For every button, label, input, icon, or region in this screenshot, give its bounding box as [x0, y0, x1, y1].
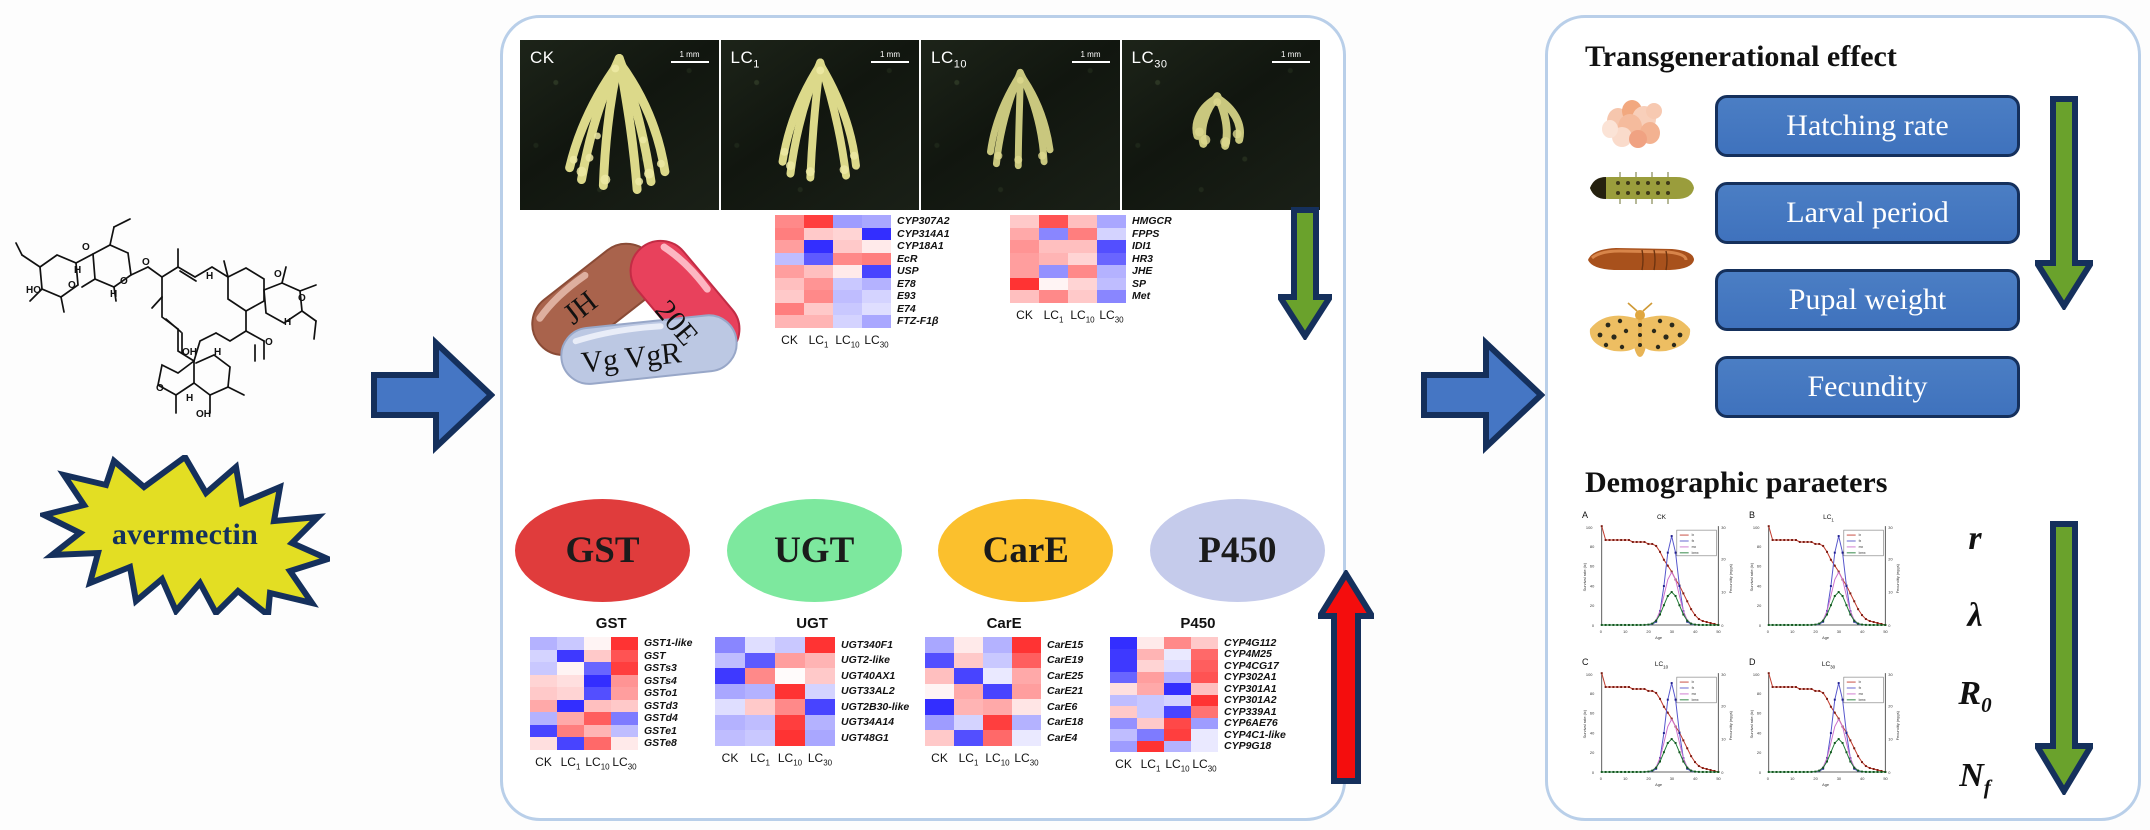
heatmap-cell — [1012, 730, 1041, 746]
heatmap-cell — [1110, 672, 1137, 684]
heatmap-cell — [1164, 649, 1191, 661]
heatmap-cell — [775, 730, 805, 746]
heatmap-cell — [584, 737, 611, 750]
heatmap-title: GST — [530, 615, 692, 632]
param-nf: Nf — [1959, 757, 1991, 800]
svg-text:H: H — [214, 347, 221, 358]
heatmap-cell — [925, 684, 954, 700]
heatmap-cell — [775, 290, 804, 303]
gene-label: GSTd3 — [644, 701, 692, 712]
svg-text:20: 20 — [1757, 603, 1762, 608]
heatmap-cell — [611, 675, 638, 688]
larva-image — [1580, 171, 1700, 205]
gene-label: E74 — [897, 304, 950, 315]
heatmap-cell — [833, 290, 862, 303]
svg-text:40: 40 — [1693, 776, 1698, 781]
heatmap-gene-labels: GST1-likeGSTGSTs3GSTs4GSTo1GSTd3GSTd4GST… — [638, 637, 692, 750]
svg-text:50: 50 — [1716, 776, 1721, 781]
svg-text:10: 10 — [1721, 736, 1726, 741]
ovary-photo: LC10 1 mm — [921, 40, 1122, 210]
heatmap-cell — [611, 725, 638, 738]
gene-label: UGT33AL2 — [841, 686, 909, 697]
heatmap-cell — [1010, 228, 1039, 241]
gene-label: USP — [897, 266, 950, 277]
heatmap-cell — [1068, 228, 1097, 241]
ovary-photo: CK 1 mm — [520, 40, 721, 210]
panel-treatment: LC30 — [1822, 661, 1835, 669]
heatmap-cell — [1012, 637, 1041, 653]
heatmap-cell — [925, 730, 954, 746]
column-label: LC10 — [1068, 308, 1097, 324]
heatmap-cell — [530, 650, 557, 663]
demographic-chart-a: 100806040200302010001020304050AgeSurviva… — [1580, 510, 1743, 653]
heatmap-cell — [805, 684, 835, 700]
heatmap-grid — [530, 637, 638, 750]
column-label: LC10 — [833, 333, 862, 349]
heatmap-cell — [775, 715, 805, 731]
heatmap-cell — [1110, 695, 1137, 707]
svg-text:mx: mx — [1859, 692, 1864, 696]
svg-text:HO: HO — [26, 285, 41, 296]
heatmap-gst: GSTGST1-likeGSTGSTs3GSTs4GSTo1GSTd3GSTd4… — [530, 615, 692, 771]
svg-text:100: 100 — [1753, 672, 1760, 677]
gene-label: GSTs3 — [644, 663, 692, 674]
heatmap-cell — [1191, 660, 1218, 672]
demographic-chart-grid: 100806040200302010001020304050AgeSurviva… — [1580, 510, 1910, 800]
svg-text:Age: Age — [1822, 635, 1830, 640]
heatmap-cell — [1010, 278, 1039, 291]
effect-pupal-weight[interactable]: Pupal weight — [1715, 269, 2020, 331]
gene-label: CYP339A1 — [1224, 707, 1286, 718]
gene-label: CarE6 — [1047, 702, 1083, 713]
param-r: r — [1968, 520, 1981, 558]
gene-label: GSTe8 — [644, 738, 692, 749]
enzyme-oval-p450: P450 — [1150, 499, 1325, 602]
enzyme-oval-ugt: UGT — [727, 499, 902, 602]
svg-text:mx: mx — [1692, 692, 1697, 696]
heatmap-cell — [1191, 741, 1218, 753]
heatmap-cell — [745, 653, 775, 669]
parameter-symbol-list: r λ R0 Nf — [1930, 520, 2020, 800]
heatmap-cell — [862, 228, 891, 241]
demographic-parameters-title: Demographic paraeters — [1585, 466, 2055, 500]
heatmap-cell — [925, 668, 954, 684]
heatmap-cell — [983, 637, 1012, 653]
heatmap-cell — [954, 637, 983, 653]
heatmap-cell — [1110, 649, 1137, 661]
heatmap-cell — [1164, 706, 1191, 718]
heatmap-cell — [715, 653, 745, 669]
heatmap-cell — [1164, 741, 1191, 753]
svg-text:H: H — [206, 271, 213, 282]
heatmap-cell — [530, 637, 557, 650]
heatmap-cell — [1164, 637, 1191, 649]
svg-text:30: 30 — [1670, 629, 1675, 634]
heatmap-gene-labels: UGT340F1UGT2-likeUGT40AX1UGT33AL2UGT2B30… — [835, 637, 909, 746]
ovary-photo: LC1 1 mm — [721, 40, 922, 210]
svg-text:0: 0 — [1592, 770, 1595, 775]
adult-moth-image — [1580, 301, 1700, 363]
gene-label: GSTo1 — [644, 688, 692, 699]
heatmap-cell — [1191, 729, 1218, 741]
svg-text:80: 80 — [1590, 691, 1595, 696]
blue-right-arrow-2 — [1420, 335, 1545, 455]
svg-text:Fecundity (eggs): Fecundity (eggs) — [1728, 563, 1733, 593]
svg-text:H: H — [74, 265, 81, 276]
heatmap-cell — [805, 637, 835, 653]
column-label: CK — [925, 751, 954, 767]
svg-text:20: 20 — [1721, 557, 1726, 562]
heatmap-cell — [862, 303, 891, 316]
life-stage-images — [1580, 95, 1700, 325]
panel-treatment: LC1 — [1823, 514, 1834, 522]
gene-label: GST — [644, 651, 692, 662]
svg-text:50: 50 — [1883, 776, 1888, 781]
heatmap-cell — [833, 253, 862, 266]
heatmap-cell — [584, 687, 611, 700]
heatmap-cell — [1097, 228, 1126, 241]
svg-text:80: 80 — [1757, 544, 1762, 549]
heatmap-cell — [1110, 683, 1137, 695]
effect-hatching-rate[interactable]: Hatching rate — [1715, 95, 2020, 157]
heatmap-cell — [775, 303, 804, 316]
column-label: LC10 — [775, 751, 805, 767]
heatmap-cell — [715, 637, 745, 653]
param-lambda: λ — [1967, 597, 1982, 635]
column-label: LC1 — [745, 751, 775, 767]
svg-text:20: 20 — [1646, 629, 1651, 634]
svg-text:fx: fx — [1859, 686, 1862, 690]
svg-text:40: 40 — [1590, 583, 1595, 588]
svg-text:lxmx: lxmx — [1692, 698, 1699, 702]
heatmap-cell — [775, 240, 804, 253]
heatmap-grid — [775, 215, 891, 328]
heatmap-cell — [1164, 672, 1191, 684]
panel-letter: D — [1749, 657, 1756, 667]
heatmap-cell — [775, 684, 805, 700]
heatmap-cell — [1137, 706, 1164, 718]
heatmap-cell — [715, 715, 745, 731]
heatmap-cell — [584, 662, 611, 675]
heatmap-cell — [983, 730, 1012, 746]
heatmap-cell — [1039, 290, 1068, 303]
svg-text:50: 50 — [1883, 629, 1888, 634]
svg-text:O: O — [298, 293, 306, 304]
heatmap-cell — [805, 730, 835, 746]
heatmap-cell — [954, 699, 983, 715]
gene-label: GSTd4 — [644, 713, 692, 724]
enzyme-oval-care: CarE — [938, 499, 1113, 602]
svg-text:10: 10 — [1623, 629, 1628, 634]
svg-text:lx: lx — [1692, 680, 1695, 684]
heatmap-cell — [611, 637, 638, 650]
heatmap-cell — [954, 715, 983, 731]
heatmap-cell — [983, 715, 1012, 731]
heatmap-cell — [1110, 718, 1137, 730]
panel-letter: B — [1749, 510, 1755, 520]
heatmap-cell — [1010, 290, 1039, 303]
heatmap-cell — [833, 265, 862, 278]
heatmap-cell — [833, 278, 862, 291]
svg-text:O: O — [142, 257, 150, 268]
svg-text:60: 60 — [1590, 711, 1595, 716]
heatmap-cell — [530, 737, 557, 750]
heatmap-cell — [557, 675, 584, 688]
svg-text:40: 40 — [1860, 629, 1865, 634]
heatmap-cell — [775, 215, 804, 228]
heatmap-cell — [804, 215, 833, 228]
gene-label: CarE15 — [1047, 640, 1083, 651]
heatmap-column-labels: CKLC1LC10LC30 — [775, 333, 950, 349]
ovary-photo-strip: CK 1 mm LC1 — [520, 40, 1320, 210]
heatmap-cell — [804, 278, 833, 291]
gene-label: HMGCR — [1132, 216, 1172, 227]
column-label: CK — [775, 333, 804, 349]
gene-label: CYP314A1 — [897, 229, 950, 240]
heatmap-cell — [1010, 265, 1039, 278]
column-label: LC10 — [1164, 757, 1191, 773]
heatmap-ugt: UGTUGT340F1UGT2-likeUGT40AX1UGT33AL2UGT2… — [715, 615, 909, 767]
svg-text:0: 0 — [1600, 776, 1603, 781]
heatmap-cell — [715, 684, 745, 700]
heatmap-cell — [1012, 668, 1041, 684]
heatmap-cell — [954, 684, 983, 700]
effect-fecundity[interactable]: Fecundity — [1715, 356, 2020, 418]
svg-text:lx: lx — [1859, 680, 1862, 684]
heatmap-cell — [954, 653, 983, 669]
heatmap-cell — [1097, 253, 1126, 266]
heatmap-cell — [584, 712, 611, 725]
svg-text:O: O — [156, 383, 164, 394]
heatmap-cell — [557, 725, 584, 738]
heatmap-cell — [804, 228, 833, 241]
param-r0: R0 — [1958, 675, 1991, 718]
heatmap-cell — [557, 637, 584, 650]
gene-label: JHE — [1132, 266, 1172, 277]
gene-label: E93 — [897, 291, 950, 302]
svg-text:60: 60 — [1590, 564, 1595, 569]
gene-label: SP — [1132, 279, 1172, 290]
svg-text:40: 40 — [1757, 730, 1762, 735]
heatmap-cell — [745, 699, 775, 715]
heatmap-cell — [805, 653, 835, 669]
heatmap-cell — [584, 700, 611, 713]
heatmap-cell — [1097, 278, 1126, 291]
heatmap-cell — [1110, 637, 1137, 649]
heatmap-cell — [1191, 706, 1218, 718]
svg-text:0: 0 — [1759, 770, 1762, 775]
heatmap-cell — [862, 215, 891, 228]
svg-text:mx: mx — [1692, 545, 1697, 549]
svg-text:Age: Age — [1655, 782, 1663, 787]
heatmap-cell — [954, 668, 983, 684]
heatmap-cell — [1068, 278, 1097, 291]
heatmap-cell — [1110, 741, 1137, 753]
svg-text:lxmx: lxmx — [1692, 551, 1699, 555]
gene-label: CYP4C1-like — [1224, 730, 1286, 741]
heatmap-cell — [530, 725, 557, 738]
heatmap-cell — [715, 699, 745, 715]
svg-text:Survival rate (lx): Survival rate (lx) — [1582, 562, 1587, 591]
column-label: LC30 — [1191, 757, 1218, 773]
heatmap-cell — [1110, 729, 1137, 741]
heatmap-cell — [805, 699, 835, 715]
svg-text:40: 40 — [1693, 629, 1698, 634]
heatmap-cell — [530, 700, 557, 713]
svg-text:Age: Age — [1655, 635, 1663, 640]
svg-text:lx: lx — [1859, 533, 1862, 537]
svg-text:fx: fx — [1692, 686, 1695, 690]
heatmap-cell — [1012, 684, 1041, 700]
svg-text:O: O — [82, 242, 90, 253]
gene-label: CYP6AE76 — [1224, 718, 1286, 729]
svg-text:50: 50 — [1716, 629, 1721, 634]
gene-label: UGT34A14 — [841, 717, 909, 728]
svg-text:40: 40 — [1757, 583, 1762, 588]
svg-text:Fecundity (eggs): Fecundity (eggs) — [1895, 710, 1900, 740]
heatmap-cell — [775, 699, 805, 715]
gene-label: CYP302A1 — [1224, 672, 1286, 683]
panel-letter: A — [1582, 510, 1588, 520]
effect-button-list: Hatching rate Larval period Pupal weight… — [1715, 95, 2020, 418]
heatmap-cell — [1137, 660, 1164, 672]
svg-text:20: 20 — [1757, 750, 1762, 755]
heatmap-cell — [530, 712, 557, 725]
effect-larval-period[interactable]: Larval period — [1715, 182, 2020, 244]
heatmap-grid — [1110, 637, 1218, 752]
heatmap-cell — [557, 687, 584, 700]
svg-text:20: 20 — [1813, 629, 1818, 634]
heatmap-cell — [557, 737, 584, 750]
heatmap-cell — [1010, 253, 1039, 266]
hormone-capsules: JH 20E Vg VgR — [505, 220, 770, 390]
svg-text:10: 10 — [1790, 776, 1795, 781]
svg-text:mx: mx — [1859, 545, 1864, 549]
svg-text:O: O — [68, 280, 76, 291]
gene-label: CYP4M25 — [1224, 649, 1286, 660]
heatmap-title: CarE — [925, 615, 1083, 632]
heatmap-cell — [1164, 683, 1191, 695]
heatmap-cell — [804, 290, 833, 303]
heatmap-cell — [530, 675, 557, 688]
heatmap-cell — [1191, 695, 1218, 707]
gene-label: E78 — [897, 279, 950, 290]
svg-text:20: 20 — [1590, 603, 1595, 608]
svg-text:lxmx: lxmx — [1859, 551, 1866, 555]
heatmap-cell — [1012, 715, 1041, 731]
heatmap-cell — [611, 687, 638, 700]
heatmap-cell — [1010, 240, 1039, 253]
gene-label: CarE18 — [1047, 717, 1083, 728]
heatmap-cell — [925, 637, 954, 653]
gene-label: UGT340F1 — [841, 640, 909, 651]
column-label: LC30 — [1097, 308, 1126, 324]
heatmap-cell — [954, 730, 983, 746]
heatmap-cell — [1137, 672, 1164, 684]
heatmap-cell — [1137, 683, 1164, 695]
gene-label: CYP307A2 — [897, 216, 950, 227]
svg-text:60: 60 — [1757, 564, 1762, 569]
svg-text:fx: fx — [1859, 539, 1862, 543]
heatmap-cell — [611, 662, 638, 675]
heatmap-cell — [1068, 240, 1097, 253]
heatmap-cell — [804, 315, 833, 328]
gene-label: HR3 — [1132, 254, 1172, 265]
heatmap-cell — [833, 315, 862, 328]
svg-text:Survival rate (lx): Survival rate (lx) — [1749, 562, 1754, 591]
scale-bar: 1 mm — [1272, 50, 1310, 63]
svg-text:lxmx: lxmx — [1859, 698, 1866, 702]
heatmap-cell — [775, 253, 804, 266]
heatmap-cell — [833, 228, 862, 241]
heatmap-cell — [557, 662, 584, 675]
heatmap-cell — [983, 653, 1012, 669]
column-label: LC1 — [1039, 308, 1068, 324]
column-label: LC10 — [983, 751, 1012, 767]
green-down-arrow-mid — [1278, 205, 1332, 340]
svg-text:OH: OH — [196, 409, 211, 420]
gene-label: CYP9G18 — [1224, 741, 1286, 752]
ovary-photo: LC30 1 mm — [1122, 40, 1321, 210]
heatmap-cell — [983, 684, 1012, 700]
gene-label: CYP4G112 — [1224, 638, 1286, 649]
heatmap-cell — [745, 715, 775, 731]
gene-label: Met — [1132, 291, 1172, 302]
heatmap-cell — [715, 730, 745, 746]
heatmap-cell — [983, 668, 1012, 684]
heatmap-cell — [1191, 637, 1218, 649]
heatmap-cell — [925, 699, 954, 715]
heatmap-cell — [983, 699, 1012, 715]
heatmap-cell — [833, 215, 862, 228]
gene-label: EcR — [897, 254, 950, 265]
heatmap-cell — [1137, 649, 1164, 661]
avermectin-label: avermectin — [40, 455, 330, 615]
heatmap-cell — [1137, 729, 1164, 741]
svg-text:H: H — [284, 317, 291, 328]
heatmap-cell — [1097, 290, 1126, 303]
heatmap-cell — [775, 637, 805, 653]
heatmap-gene-labels: CYP4G112CYP4M25CYP4CG17CYP302A1CYP301A1C… — [1218, 637, 1286, 752]
svg-text:Survival rate (lx): Survival rate (lx) — [1582, 709, 1587, 738]
heatmap-cell — [775, 653, 805, 669]
scale-bar: 1 mm — [671, 50, 709, 63]
heatmap-grid — [1010, 215, 1126, 303]
svg-text:O: O — [120, 276, 128, 287]
heatmap-cell — [557, 650, 584, 663]
svg-text:20: 20 — [1646, 776, 1651, 781]
heatmap-cell — [530, 662, 557, 675]
svg-text:80: 80 — [1757, 691, 1762, 696]
photo-label: LC10 — [931, 48, 967, 70]
heatmap-cell — [745, 684, 775, 700]
heatmap-cell — [833, 240, 862, 253]
heatmap-cell — [862, 290, 891, 303]
pupa-image — [1580, 241, 1700, 275]
heatmap-cell — [611, 737, 638, 750]
gene-label: UGT2-like — [841, 655, 909, 666]
heatmap-cell — [611, 700, 638, 713]
svg-text:10: 10 — [1888, 589, 1893, 594]
svg-text:10: 10 — [1790, 629, 1795, 634]
heatmap-cell — [805, 715, 835, 731]
heatmap-cell — [1137, 637, 1164, 649]
demographic-chart-b: 100806040200302010001020304050AgeSurviva… — [1747, 510, 1910, 653]
gene-label: CarE25 — [1047, 671, 1083, 682]
gene-label: FPPS — [1132, 229, 1172, 240]
panel-treatment: LC10 — [1655, 661, 1668, 669]
gene-label: CYP301A1 — [1224, 684, 1286, 695]
